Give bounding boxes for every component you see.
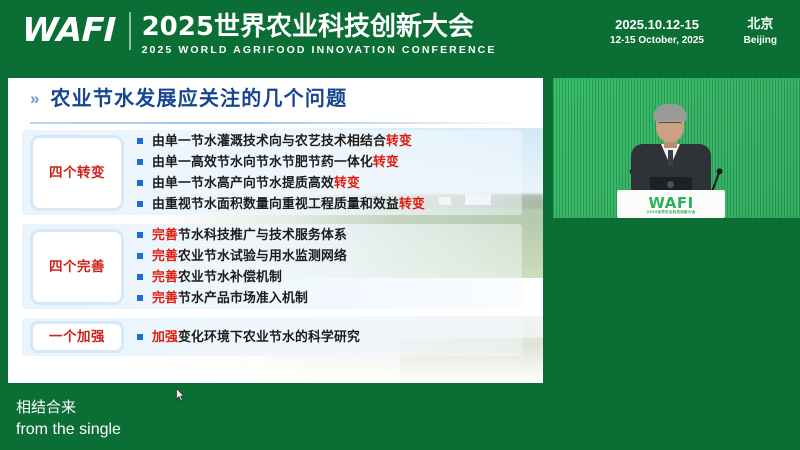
speaker-tie: [668, 150, 673, 166]
bullet-list: 完善节水科技推广与技术服务体系 完善农业节水试验与用水监测网络 完善农业节水补偿…: [137, 223, 522, 311]
bullet-text: 由单一节水灌溉技术向与农艺技术相结合转变: [152, 133, 412, 150]
square-bullet-icon: [137, 253, 143, 259]
slide-title-area: » 农业节水发展应关注的几个问题: [8, 86, 543, 110]
content-card: 四个转变 由单一节水灌溉技术向与农艺技术相结合转变 由单一高效节水向节水节肥节药…: [22, 130, 522, 215]
speaker-hair: [653, 104, 687, 121]
mouse-cursor: [176, 388, 185, 402]
group-tag-label: 一个加强: [49, 329, 105, 345]
bullet-list: 加强变化环境下农业节水的科学研究: [137, 329, 522, 346]
square-bullet-icon: [137, 138, 143, 144]
square-bullet-icon: [137, 201, 143, 207]
group-tag-label: 四个转变: [49, 165, 105, 181]
list-item: 完善节水科技推广与技术服务体系: [137, 227, 522, 244]
square-bullet-icon: [137, 232, 143, 238]
title-underline: [30, 122, 528, 124]
bullet-text: 由单一高效节水向节水节肥节药一体化转变: [152, 154, 399, 171]
bullet-text: 由重视节水面积数量向重视工程质量和效益转变: [152, 196, 425, 213]
bullet-text: 完善节水科技推广与技术服务体系: [152, 227, 347, 244]
bullet-text: 完善节水产品市场准入机制: [152, 290, 308, 307]
group-tag-label: 四个完善: [49, 259, 105, 275]
led-stage-backdrop: WAFI 2025世界农业科技创新大会: [553, 78, 800, 218]
list-item: 加强变化环境下农业节水的科学研究: [137, 329, 522, 346]
event-city-cn: 北京: [744, 17, 777, 33]
subtitle-cn: 相结合来: [16, 396, 121, 418]
group-tag-box: 四个完善: [33, 232, 121, 302]
square-bullet-icon: [137, 295, 143, 301]
brand-lockup: WAFI 2025世界农业科技创新大会 2025 WORLD AGRIFOOD …: [22, 12, 496, 57]
list-item: 完善农业节水试验与用水监测网络: [137, 248, 522, 265]
event-date-en: 12-15 October, 2025: [610, 33, 704, 48]
square-bullet-icon: [137, 334, 143, 340]
subtitle-area: 相结合来 from the single: [16, 396, 121, 442]
list-item: 由单一节水高产向节水提质高效转变: [137, 175, 522, 192]
subtitle-en: from the single: [16, 418, 121, 442]
conference-title-en: 2025 WORLD AGRIFOOD INNOVATION CONFERENC…: [142, 43, 497, 57]
wafi-logo: WAFI: [21, 12, 116, 48]
group-tag-box: 四个转变: [33, 138, 121, 208]
podium-subtitle: 2025世界农业科技创新大会: [617, 210, 725, 215]
bullet-text: 完善农业节水补偿机制: [152, 269, 282, 286]
app-stage: WAFI 2025世界农业科技创新大会 2025 WORLD AGRIFOOD …: [0, 0, 800, 450]
conference-header: WAFI 2025世界农业科技创新大会 2025 WORLD AGRIFOOD …: [0, 0, 800, 70]
conference-title-cn: 2025世界农业科技创新大会: [142, 12, 497, 42]
logo-divider: [129, 12, 131, 50]
speaker-video-panel[interactable]: WAFI 2025世界农业科技创新大会: [553, 78, 800, 383]
event-date-cn: 2025.10.12-15: [610, 17, 704, 33]
square-bullet-icon: [137, 180, 143, 186]
list-item: 完善农业节水补偿机制: [137, 269, 522, 286]
bullet-text: 完善农业节水试验与用水监测网络: [152, 248, 347, 265]
bullet-text: 由单一节水高产向节水提质高效转变: [152, 175, 360, 192]
laptop-icon: [650, 177, 692, 191]
list-item: 由单一节水灌溉技术向与农艺技术相结合转变: [137, 133, 522, 150]
list-item: 完善节水产品市场准入机制: [137, 290, 522, 307]
double-chevron-right-icon: »: [30, 90, 36, 107]
square-bullet-icon: [137, 159, 143, 165]
content-card: 一个加强 加强变化环境下农业节水的科学研究: [22, 318, 522, 356]
bullet-text: 加强变化环境下农业节水的科学研究: [152, 329, 360, 346]
group-tag-box: 一个加强: [33, 324, 121, 350]
slide-title: 农业节水发展应关注的几个问题: [50, 86, 347, 110]
presentation-slide[interactable]: » 农业节水发展应关注的几个问题 四个转变 由单一节水灌溉技术向与农艺技术相结合…: [8, 78, 543, 383]
list-item: 由重视节水面积数量向重视工程质量和效益转变: [137, 196, 522, 213]
event-date: 2025.10.12-15 12-15 October, 2025: [610, 17, 704, 48]
event-city-en: Beijing: [744, 33, 777, 48]
list-item: 由单一高效节水向节水节肥节药一体化转变: [137, 154, 522, 171]
content-card: 四个完善 完善节水科技推广与技术服务体系 完善农业节水试验与用水监测网络 完善农…: [22, 224, 522, 309]
square-bullet-icon: [137, 274, 143, 280]
speaker-glasses-icon: [658, 122, 682, 129]
bullet-list: 由单一节水灌溉技术向与农艺技术相结合转变 由单一高效节水向节水节肥节药一体化转变…: [137, 129, 522, 217]
event-city: 北京 Beijing: [744, 17, 777, 48]
